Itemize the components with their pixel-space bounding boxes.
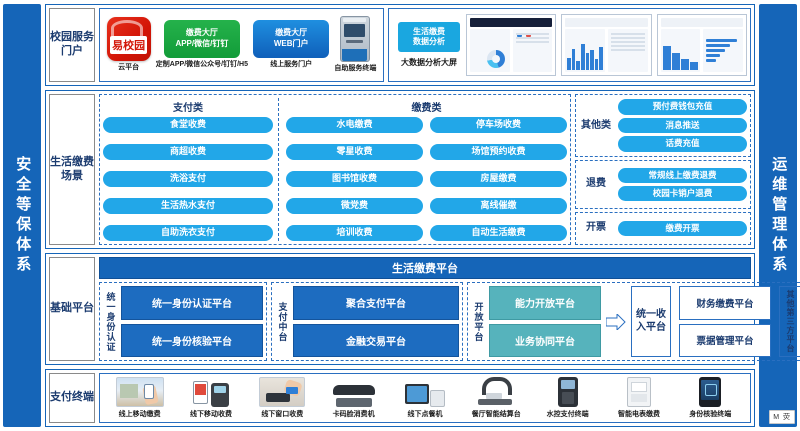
scene-pill[interactable]: 培训收费 xyxy=(286,225,423,241)
left-vertical-bar: 安全等保体系 xyxy=(3,4,41,427)
ordering-kiosk-icon xyxy=(405,377,445,407)
scene-group-refund: 退费 常规线上缴费退费 校园卡销户退费 xyxy=(575,160,751,209)
scene-pill[interactable]: 停车场收费 xyxy=(430,117,567,133)
web-button-line1: 缴费大厅 xyxy=(275,28,307,39)
right-vertical-bar-label: 运维管理体系 xyxy=(770,156,787,276)
platform-group-identity-label: 统一身份认证 xyxy=(103,286,117,357)
terminal-body: 线上移动缴费 线下移动收费 线下窗口收费 卡码脸消费机 线下点餐机 xyxy=(99,373,751,423)
app-button-line2: APP/微信/钉钉 xyxy=(175,39,228,50)
scene-group-refund-label: 退费 xyxy=(579,178,613,190)
platform-group-identity: 统一身份认证 统一身份认证平台 统一身份核验平台 xyxy=(99,282,267,361)
app-button-icon: 缴费大厅 APP/微信/钉钉 xyxy=(164,20,240,58)
bigdata-badge-box: 生活缴费 数据分析 xyxy=(398,22,460,52)
scene-fee-column-1: 水电缴费 零星收费 图书馆收费 微党费 培训收费 xyxy=(286,117,423,241)
terminal-caption: 线下移动收费 xyxy=(190,409,232,419)
terminal-caption: 卡码脸消费机 xyxy=(333,409,375,419)
scene-body: 支付类 食堂收费 商超收费 洗浴支付 生活热水支付 自助洗衣支付 xyxy=(99,94,751,245)
portal-item-caption: 自助服务终端 xyxy=(334,65,376,74)
kiosk-icon xyxy=(340,16,370,62)
portal-item-caption: 线上服务门户 xyxy=(270,61,312,70)
scene-pill[interactable]: 离线催缴 xyxy=(430,198,567,214)
identity-verification-terminal-icon xyxy=(699,377,721,407)
terminal-item-card-face-consume-machine[interactable]: 卡码脸消费机 xyxy=(322,377,386,419)
web-button-line2: WEB门户 xyxy=(274,39,309,50)
terminal-item-smart-electric-meter[interactable]: 智能电表缴费 xyxy=(607,377,671,419)
scene-group-fee: 缴费类 水电缴费 零星收费 图书馆收费 微党费 培训收费 停车场收费 xyxy=(283,98,567,241)
bigdata-badge-line1: 生活缴费 xyxy=(413,27,445,37)
scene-pill[interactable]: 食堂收费 xyxy=(103,117,273,133)
platform-box[interactable]: 票据管理平台 xyxy=(679,324,771,358)
platform-box[interactable]: 统一身份核验平台 xyxy=(121,324,263,358)
terminal-item-mobile-pos[interactable]: 线下移动收费 xyxy=(179,377,243,419)
mobile-pos-icon xyxy=(193,379,229,407)
portal-item-cloud-platform[interactable]: 易校园 云平台 xyxy=(107,17,151,73)
terminal-caption: 水控支付终端 xyxy=(547,409,589,419)
terminal-item-mobile-online-payment[interactable]: 线上移动缴费 xyxy=(108,377,172,419)
scene-main-group: 支付类 食堂收费 商超收费 洗浴支付 生活热水支付 自助洗衣支付 xyxy=(99,94,571,245)
platform-group-payment-middle: 支付中台 聚合支付平台 金融交易平台 xyxy=(271,282,463,361)
scene-pill[interactable]: 零星收费 xyxy=(286,144,423,160)
scene-pill[interactable]: 自动生活缴费 xyxy=(430,225,567,241)
scene-pill[interactable]: 场馆预约收费 xyxy=(430,144,567,160)
scene-group-other: 其他类 预付费钱包充值 消息推送 话费充值 xyxy=(575,94,751,157)
scene-group-payment-title: 支付类 xyxy=(103,99,273,114)
terminal-caption: 身份核验终端 xyxy=(689,409,731,419)
right-vertical-bar: 运维管理体系 xyxy=(759,4,797,427)
portal-item-caption: 云平台 xyxy=(118,64,139,73)
portal-body: 易校园 云平台 缴费大厅 APP/微信/钉钉 定制APP/微信公众号/钉钉/H5 xyxy=(99,8,751,82)
terminal-caption: 线下窗口收费 xyxy=(261,409,303,419)
diagram-stack: 校园服务门户 易校园 云平台 缴费大厅 APP/微信/钉钉 xyxy=(45,4,755,427)
scene-pill[interactable]: 消息推送 xyxy=(618,118,747,133)
platform-third-party-box[interactable]: 其他第三方平台 xyxy=(779,286,800,357)
scene-pill[interactable]: 水电缴费 xyxy=(286,117,423,133)
scene-pill[interactable]: 自助洗衣支付 xyxy=(103,225,273,241)
scene-pill[interactable]: 校园卡销户退费 xyxy=(618,186,747,201)
scene-pill[interactable]: 图书馆收费 xyxy=(286,171,423,187)
smart-electric-meter-icon xyxy=(627,377,651,407)
mobile-online-payment-icon xyxy=(116,377,164,407)
terminal-caption: 线上移动缴费 xyxy=(119,409,161,419)
corner-watermark-tag: M 荧 xyxy=(769,410,795,424)
water-control-terminal-icon xyxy=(558,377,578,407)
scene-pill[interactable]: 房屋缴费 xyxy=(430,171,567,187)
platform-box[interactable]: 财务缴费平台 xyxy=(679,286,771,320)
terminal-item-ordering-kiosk[interactable]: 线下点餐机 xyxy=(393,377,457,419)
bigdata-badge-line2: 数据分析 xyxy=(413,37,445,47)
platform-box[interactable]: 业务协同平台 xyxy=(489,324,601,358)
scene-pill[interactable]: 常规线上缴费退费 xyxy=(618,168,747,183)
dashboard-screenshots xyxy=(466,14,747,76)
band-payment-terminals: 支付终端 线上移动缴费 线下移动收费 线下窗口收费 卡码脸消费机 xyxy=(45,369,755,427)
platform-box[interactable]: 金融交易平台 xyxy=(293,324,459,358)
scene-fee-column-2: 停车场收费 场馆预约收费 房屋缴费 离线催缴 自动生活缴费 xyxy=(430,117,567,241)
bigdata-caption: 大数据分析大屏 xyxy=(401,57,457,68)
left-vertical-bar-label: 安全等保体系 xyxy=(14,156,31,276)
web-button-icon: 缴费大厅 WEB门户 xyxy=(253,20,329,58)
architecture-diagram: 安全等保体系 运维管理体系 M 荧 校园服务门户 易校园 云平台 xyxy=(0,0,800,431)
scene-group-invoice: 开票 缴费开票 xyxy=(575,212,751,245)
band-base-platform: 基础平台 生活缴费平台 统一身份认证 统一身份认证平台 统一身份核验平台 支付中… xyxy=(45,253,755,365)
portal-entries-group: 易校园 云平台 缴费大厅 APP/微信/钉钉 定制APP/微信公众号/钉钉/H5 xyxy=(99,8,384,82)
portal-item-custom-app[interactable]: 缴费大厅 APP/微信/钉钉 定制APP/微信公众号/钉钉/H5 xyxy=(156,20,248,70)
dashboard-bar-screenshot xyxy=(561,14,651,76)
terminal-item-identity-verification[interactable]: 身份核验终端 xyxy=(678,377,742,419)
scene-pill[interactable]: 生活热水支付 xyxy=(103,198,273,214)
platform-group-open-label: 开放平台 xyxy=(471,286,485,357)
row-label-scene: 生活缴费场景 xyxy=(49,94,95,245)
dashboard-dark-screenshot xyxy=(466,14,556,76)
row-label-platform: 基础平台 xyxy=(49,257,95,361)
right-arrow-icon xyxy=(605,286,627,357)
row-label-portal: 校园服务门户 xyxy=(49,8,95,82)
bigdata-screen-group: 生活缴费 数据分析 大数据分析大屏 xyxy=(388,8,751,82)
scene-pill[interactable]: 商超收费 xyxy=(103,144,273,160)
yixiaoyuan-logo-icon: 易校园 xyxy=(107,17,151,61)
scene-group-fee-title: 缴费类 xyxy=(286,99,567,114)
yixiaoyuan-logo-text: 易校园 xyxy=(110,36,147,54)
terminal-caption: 餐厅智能结算台 xyxy=(472,409,521,419)
bigdata-badge: 生活缴费 数据分析 大数据分析大屏 xyxy=(398,22,460,68)
portal-item-web-portal[interactable]: 缴费大厅 WEB门户 线上服务门户 xyxy=(253,20,329,70)
platform-group-payment-middle-label: 支付中台 xyxy=(275,286,289,357)
app-button-line1: 缴费大厅 xyxy=(186,28,218,39)
scene-pill[interactable]: 话费充值 xyxy=(618,136,747,151)
band-life-payment-scenarios: 生活缴费场景 支付类 食堂收费 商超收费 洗浴支付 生活热水支付 自助洗衣支付 xyxy=(45,90,755,249)
terminal-caption: 智能电表缴费 xyxy=(618,409,660,419)
terminal-item-water-control[interactable]: 水控支付终端 xyxy=(536,377,600,419)
platform-columns: 统一身份认证 统一身份认证平台 统一身份核验平台 支付中台 聚合支付平台 金融交… xyxy=(99,282,751,361)
band-campus-service-portal: 校园服务门户 易校园 云平台 缴费大厅 APP/微信/钉钉 xyxy=(45,4,755,86)
platform-unified-income-box[interactable]: 统一收入平台 xyxy=(631,286,671,357)
terminal-item-counter-scanner[interactable]: 线下窗口收费 xyxy=(250,377,314,419)
scene-pill[interactable]: 微党费 xyxy=(286,198,423,214)
scene-group-payment: 支付类 食堂收费 商超收费 洗浴支付 生活热水支付 自助洗衣支付 xyxy=(103,98,279,241)
portal-item-caption: 定制APP/微信公众号/钉钉/H5 xyxy=(156,61,248,70)
platform-box[interactable]: 聚合支付平台 xyxy=(293,286,459,320)
card-face-consume-machine-icon xyxy=(333,385,375,407)
scene-group-other-label: 其他类 xyxy=(579,120,613,132)
platform-group-open: 开放平台 能力开放平台 业务协同平台 统一收入平台 财务缴费平台 xyxy=(467,282,800,361)
scene-side-groups: 其他类 预付费钱包充值 消息推送 话费充值 退费 常规线上缴费退费 校园卡销户退… xyxy=(575,94,751,245)
terminal-item-smart-settlement-table[interactable]: 餐厅智能结算台 xyxy=(464,377,528,419)
scene-pill[interactable]: 预付费钱包充值 xyxy=(618,99,747,114)
platform-box[interactable]: 能力开放平台 xyxy=(489,286,601,320)
scene-group-invoice-label: 开票 xyxy=(579,222,613,234)
scene-pill[interactable]: 洗浴支付 xyxy=(103,171,273,187)
platform-box[interactable]: 统一身份认证平台 xyxy=(121,286,263,320)
platform-body: 生活缴费平台 统一身份认证 统一身份认证平台 统一身份核验平台 支付中台 聚合支… xyxy=(99,257,751,361)
row-label-terminal: 支付终端 xyxy=(49,373,95,423)
counter-scanner-icon xyxy=(259,377,305,407)
smart-settlement-table-icon xyxy=(476,377,516,407)
platform-banner: 生活缴费平台 xyxy=(99,257,751,279)
dashboard-rank-screenshot xyxy=(657,14,747,76)
scene-pill[interactable]: 缴费开票 xyxy=(618,221,747,236)
portal-item-self-service-kiosk[interactable]: 自助服务终端 xyxy=(334,16,376,74)
terminal-caption: 线下点餐机 xyxy=(407,409,442,419)
